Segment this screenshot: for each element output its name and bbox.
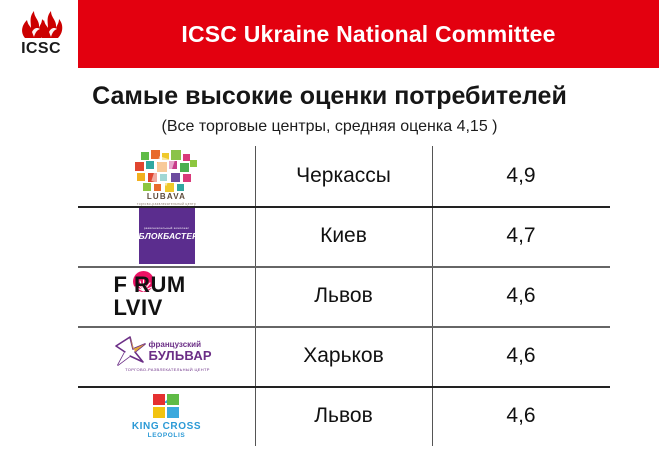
- table-cell-logo: F RUM LVIV: [78, 266, 255, 326]
- table-cell-logo: французский БУЛЬВАР ТОРГОВО-РАЗВЛЕКАТЕЛЬ…: [78, 326, 255, 386]
- table-cell-score: 4,9: [432, 146, 610, 206]
- blockbuster-tagline: развлекательный комплекс: [139, 226, 195, 230]
- table-row: французский БУЛЬВАР ТОРГОВО-РАЗВЛЕКАТЕЛЬ…: [78, 326, 610, 386]
- blockbuster-logo: развлекательный комплекс БЛОКБАСТЕР: [139, 208, 195, 264]
- page-title: Самые высокие оценки потребителей: [0, 82, 659, 111]
- table-cell-logo: LUBAVA торгово-развлекательный центр: [78, 146, 255, 206]
- icsc-logo: ICSC: [10, 8, 72, 66]
- table-cell-city: Киев: [255, 206, 432, 266]
- table-cell-score: 4,6: [432, 266, 610, 326]
- table-cell-logo: KING CROSS LEOPOLIS: [78, 386, 255, 446]
- king-cross-leopolis-logo: KING CROSS LEOPOLIS: [122, 390, 212, 442]
- forum-city-word: LVIV: [114, 295, 220, 321]
- french-boulevard-logo: французский БУЛЬВАР ТОРГОВО-РАЗВЛЕКАТЕЛЬ…: [111, 331, 223, 381]
- header-title: ICSC Ukraine National Committee: [78, 0, 659, 68]
- table-cell-score: 4,7: [432, 206, 610, 266]
- table-row: F RUM LVIV Львов 4,6: [78, 266, 610, 326]
- ratings-table: LUBAVA торгово-развлекательный центр Чер…: [78, 146, 610, 446]
- page-subtitle: (Все торговые центры, средняя оценка 4,1…: [0, 118, 659, 136]
- king-cross-squares-icon: [153, 394, 181, 420]
- king-cross-wordmark: KING CROSS: [122, 421, 212, 432]
- boulevard-word-boulevard: БУЛЬВАР: [149, 348, 212, 363]
- icsc-wordmark: ICSC: [10, 40, 72, 58]
- table-row: развлекательный комплекс БЛОКБАСТЕР Киев…: [78, 206, 610, 266]
- table-row: KING CROSS LEOPOLIS Львов 4,6: [78, 386, 610, 446]
- table-cell-city: Харьков: [255, 326, 432, 386]
- king-cross-subword: LEOPOLIS: [122, 432, 212, 439]
- table-row: LUBAVA торгово-развлекательный центр Чер…: [78, 146, 610, 206]
- icsc-flame-icon: [16, 8, 66, 40]
- table-cell-score: 4,6: [432, 326, 610, 386]
- table-cell-logo: развлекательный комплекс БЛОКБАСТЕР: [78, 206, 255, 266]
- forum-lviv-logo: F RUM LVIV: [114, 270, 220, 322]
- table-cell-city: Львов: [255, 266, 432, 326]
- lubava-wordmark: LUBAVA: [127, 192, 207, 201]
- boulevard-star-icon: [113, 335, 147, 369]
- lubava-logo: LUBAVA торгово-развлекательный центр: [127, 148, 207, 204]
- blockbuster-wordmark: БЛОКБАСТЕР: [139, 231, 195, 241]
- table-cell-city: Черкассы: [255, 146, 432, 206]
- table-cell-city: Львов: [255, 386, 432, 446]
- table-cell-score: 4,6: [432, 386, 610, 446]
- slide-header: ICSC Ukraine National Committee ICSC: [0, 0, 659, 72]
- boulevard-tagline: ТОРГОВО-РАЗВЛЕКАТЕЛЬНЫЙ ЦЕНТР: [113, 367, 223, 372]
